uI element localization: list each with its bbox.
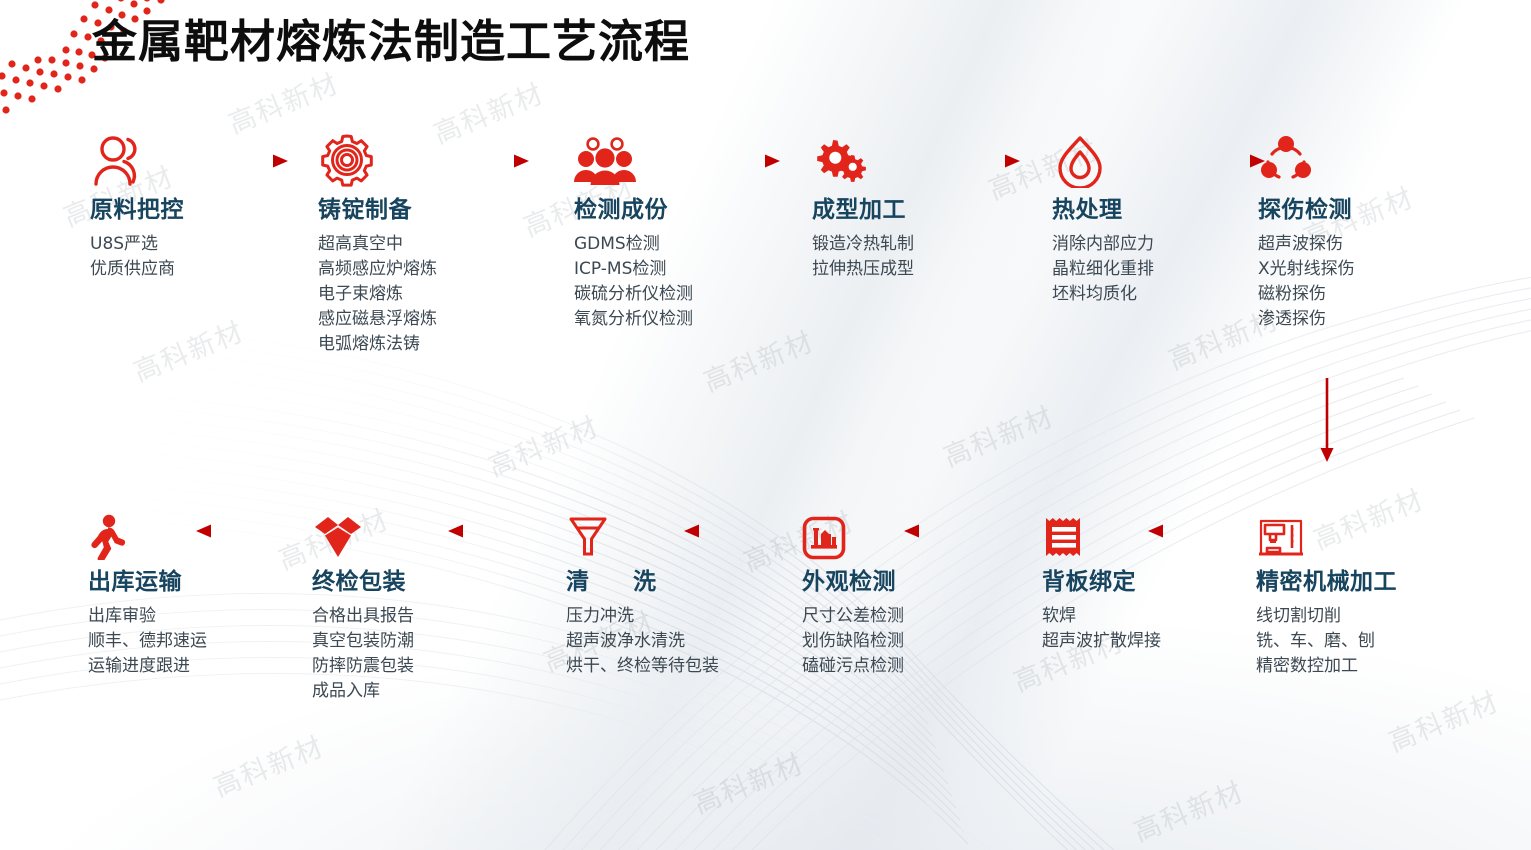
- step-12-outbound-transport[interactable]: 出库运输 出库审验 顺丰、德邦速运 运输进度跟进: [88, 500, 303, 679]
- step-title: 外观检测: [802, 568, 1017, 597]
- step-detail: 氧氮分析仪检测: [574, 307, 789, 332]
- process-flow: 原料把控 U8S严选 优质供应商 铸锭制备 超高真空中 高频感应炉熔炼 电子束熔…: [0, 0, 1531, 850]
- step-detail: 压力冲洗: [566, 604, 746, 629]
- step-4-forming-processing[interactable]: 成型加工 锻造冷热轧制 拉伸热压成型: [812, 128, 1027, 282]
- step-detail: 优质供应商: [90, 257, 305, 282]
- step-title: 铸锭制备: [318, 196, 533, 225]
- two-gears-icon: [812, 128, 1027, 188]
- crowd-icon: [574, 128, 789, 188]
- cnc-machine-icon: [1256, 500, 1486, 560]
- step-title: 出库运输: [88, 568, 303, 597]
- step-8-backing-plate-bonding[interactable]: 背板绑定 软焊 超声波扩散焊接: [1042, 500, 1257, 654]
- step-title: 背板绑定: [1042, 568, 1257, 597]
- step-detail-list: 软焊 超声波扩散焊接: [1042, 604, 1257, 654]
- step-1-raw-material-control[interactable]: 原料把控 U8S严选 优质供应商: [90, 128, 305, 282]
- step-detail: 超高真空中: [318, 232, 533, 257]
- step-detail: 运输进度跟进: [88, 654, 303, 679]
- step-detail: 真空包装防潮: [312, 629, 527, 654]
- molecule-icon: [1258, 128, 1473, 188]
- step-detail: 拉伸热压成型: [812, 257, 1027, 282]
- step-detail: 线切割切削: [1256, 604, 1486, 629]
- step-detail-list: 线切割切削 铣、车、磨、刨 精密数控加工: [1256, 604, 1486, 679]
- step-detail-list: 超声波探伤 X光射线探伤 磁粉探伤 渗透探伤: [1258, 232, 1473, 332]
- flame-icon: [1052, 128, 1267, 188]
- step-6-flaw-detection[interactable]: 探伤检测 超声波探伤 X光射线探伤 磁粉探伤 渗透探伤: [1258, 128, 1473, 332]
- step-title: 清 洗: [566, 568, 746, 597]
- step-detail: 铣、车、磨、刨: [1256, 629, 1486, 654]
- step-3-composition-testing[interactable]: 检测成份 GDMS检测 ICP-MS检测 碳硫分析仪检测 氧氮分析仪检测: [574, 128, 789, 332]
- step-detail-list: GDMS检测 ICP-MS检测 碳硫分析仪检测 氧氮分析仪检测: [574, 232, 789, 332]
- step-detail: 超声波净水清洗: [566, 629, 746, 654]
- step-detail-list: U8S严选 优质供应商: [90, 232, 305, 282]
- step-title: 终检包装: [312, 568, 527, 597]
- step-detail-list: 消除内部应力 晶粒细化重排 坯料均质化: [1052, 232, 1267, 307]
- step-detail: 防摔防震包装: [312, 654, 527, 679]
- step-detail-list: 出库审验 顺丰、德邦速运 运输进度跟进: [88, 604, 303, 679]
- step-detail: GDMS检测: [574, 232, 789, 257]
- step-9-appearance-inspection[interactable]: 外观检测 尺寸公差检测 划伤缺陷检测 磕碰污点检测: [802, 500, 1017, 679]
- step-detail: 磁粉探伤: [1258, 282, 1473, 307]
- step-detail: 顺丰、德邦速运: [88, 629, 303, 654]
- gear-icon: [318, 128, 533, 188]
- step-detail: 精密数控加工: [1256, 654, 1486, 679]
- step-detail: 磕碰污点检测: [802, 654, 1017, 679]
- step-title: 精密机械加工: [1256, 568, 1486, 597]
- step-detail: 超声波探伤: [1258, 232, 1473, 257]
- step-10-cleaning[interactable]: 清 洗 压力冲洗 超声波净水清洗 烘干、终检等待包装: [566, 500, 746, 679]
- walking-person-icon: [88, 500, 303, 560]
- appearance-inspect-icon: [802, 500, 1017, 560]
- step-title: 热处理: [1052, 196, 1267, 225]
- step-title: 探伤检测: [1258, 196, 1473, 225]
- step-detail: 电子束熔炼: [318, 282, 533, 307]
- step-detail: 晶粒细化重排: [1052, 257, 1267, 282]
- two-people-icon: [90, 128, 305, 188]
- step-5-heat-treatment[interactable]: 热处理 消除内部应力 晶粒细化重排 坯料均质化: [1052, 128, 1267, 307]
- funnel-icon: [566, 500, 746, 560]
- step-detail-list: 合格出具报告 真空包装防潮 防摔防震包装 成品入库: [312, 604, 527, 704]
- step-detail-list: 锻造冷热轧制 拉伸热压成型: [812, 232, 1027, 282]
- step-2-ingot-preparation[interactable]: 铸锭制备 超高真空中 高频感应炉熔炼 电子束熔炼 感应磁悬浮熔炼 电弧熔炼法铸: [318, 128, 533, 357]
- step-detail: 合格出具报告: [312, 604, 527, 629]
- step-detail-list: 尺寸公差检测 划伤缺陷检测 磕碰污点检测: [802, 604, 1017, 679]
- step-detail: 感应磁悬浮熔炼: [318, 307, 533, 332]
- arrow-6-to-7: [1318, 378, 1336, 462]
- step-detail: X光射线探伤: [1258, 257, 1473, 282]
- step-detail-list: 压力冲洗 超声波净水清洗 烘干、终检等待包装: [566, 604, 746, 679]
- step-detail: 碳硫分析仪检测: [574, 282, 789, 307]
- open-box-icon: [312, 500, 527, 560]
- step-detail: 尺寸公差检测: [802, 604, 1017, 629]
- step-detail: 消除内部应力: [1052, 232, 1267, 257]
- step-title: 检测成份: [574, 196, 789, 225]
- step-7-precision-machining[interactable]: 精密机械加工 线切割切削 铣、车、磨、刨 精密数控加工: [1256, 500, 1486, 679]
- step-title: 原料把控: [90, 196, 305, 225]
- step-detail: 渗透探伤: [1258, 307, 1473, 332]
- step-11-final-inspection-packaging[interactable]: 终检包装 合格出具报告 真空包装防潮 防摔防震包装 成品入库: [312, 500, 527, 704]
- step-detail: 成品入库: [312, 679, 527, 704]
- step-detail: 软焊: [1042, 604, 1257, 629]
- step-detail: ICP-MS检测: [574, 257, 789, 282]
- bonding-plate-icon: [1042, 500, 1257, 560]
- page-title: 金属靶材熔炼法制造工艺流程: [92, 5, 690, 70]
- step-detail: 坯料均质化: [1052, 282, 1267, 307]
- step-title: 成型加工: [812, 196, 1027, 225]
- step-detail-list: 超高真空中 高频感应炉熔炼 电子束熔炼 感应磁悬浮熔炼 电弧熔炼法铸: [318, 232, 533, 357]
- step-detail: 高频感应炉熔炼: [318, 257, 533, 282]
- step-detail: 电弧熔炼法铸: [318, 332, 533, 357]
- step-detail: 烘干、终检等待包装: [566, 654, 746, 679]
- step-detail: 划伤缺陷检测: [802, 629, 1017, 654]
- step-detail: 出库审验: [88, 604, 303, 629]
- step-detail: 超声波扩散焊接: [1042, 629, 1257, 654]
- step-detail: U8S严选: [90, 232, 305, 257]
- step-detail: 锻造冷热轧制: [812, 232, 1027, 257]
